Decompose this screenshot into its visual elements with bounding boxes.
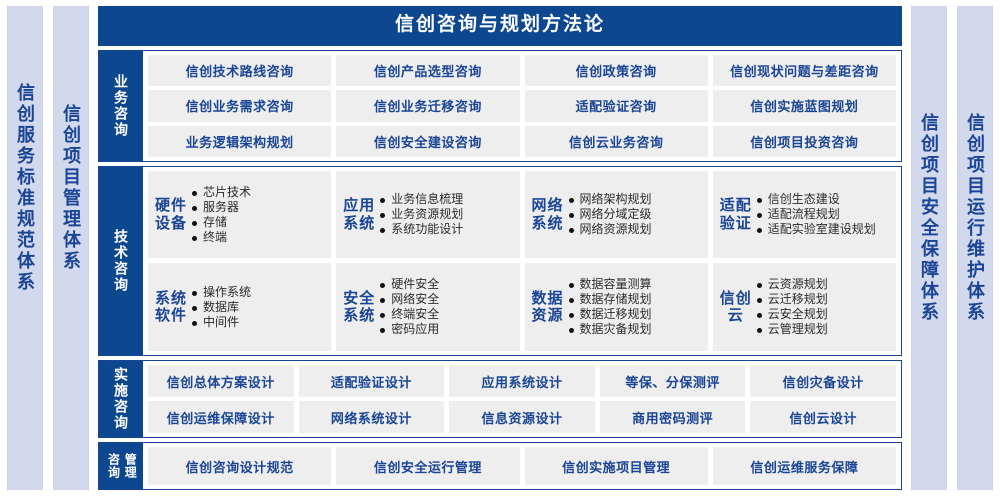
section-implementation-consulting: 实施咨询 信创总体方案设计 适配验证设计 应用系统设计 等保、分保测评 信创灾备… bbox=[98, 360, 902, 438]
list-item: 数据迁移规划 bbox=[569, 307, 704, 322]
table-row: 信创业务需求咨询 信创业务迁移咨询 适配验证咨询 信创实施蓝图规划 bbox=[148, 90, 896, 121]
tech-card-title: 安全系统 bbox=[342, 290, 376, 325]
tech-card-list: 网络架构规划 网络分域定级 网络资源规划 bbox=[569, 192, 704, 237]
tech-card-list: 云资源规划 云迁移规划 云安全规划 云管理规划 bbox=[757, 277, 892, 337]
pillar-operation-maintenance[interactable]: 信创项目运行维护体系 bbox=[957, 6, 993, 490]
section-business-consulting-label-col: 业务咨询 bbox=[99, 51, 143, 161]
tech-card-title: 数据资源 bbox=[531, 290, 565, 325]
list-item: 服务器 bbox=[192, 200, 327, 215]
list-item: 云安全规划 bbox=[757, 307, 892, 322]
list-item[interactable]: 信创政策咨询 bbox=[525, 55, 708, 86]
table-row: 业务逻辑架构规划 信创安全建设咨询 信创云业务咨询 信创项目投资咨询 bbox=[148, 126, 896, 157]
page-title: 信创咨询与规划方法论 bbox=[98, 6, 902, 46]
tech-card-title: 网络系统 bbox=[531, 197, 565, 232]
section-implementation-consulting-body: 信创总体方案设计 适配验证设计 应用系统设计 等保、分保测评 信创灾备设计 信创… bbox=[143, 361, 901, 437]
list-item[interactable]: 信创项目投资咨询 bbox=[713, 126, 896, 157]
tech-card-title: 应用系统 bbox=[342, 197, 376, 232]
section-consulting-management: 咨询 管理 信创咨询设计规范 信创安全运行管理 信创实施项目管理 信创运维服务保… bbox=[98, 442, 902, 490]
list-item[interactable]: 等保、分保测评 bbox=[600, 365, 746, 397]
tech-card-data-resource[interactable]: 数据资源 数据容量测算 数据存储规划 数据迁移规划 数据灾备规划 bbox=[525, 263, 708, 351]
list-item[interactable]: 信创业务需求咨询 bbox=[148, 90, 331, 121]
section-consulting-management-label-col2: 管理 bbox=[123, 453, 137, 479]
list-item: 信创生态建设 bbox=[757, 192, 892, 207]
tech-card-title: 系统软件 bbox=[154, 290, 188, 325]
list-item[interactable]: 网络系统设计 bbox=[299, 401, 445, 433]
section-consulting-management-label: 咨询 管理 bbox=[106, 453, 137, 479]
list-item[interactable]: 信创技术路线咨询 bbox=[148, 55, 331, 86]
table-row: 信创运维保障设计 网络系统设计 信息资源设计 商用密码测评 信创云设计 bbox=[148, 401, 896, 433]
section-implementation-consulting-label: 实施咨询 bbox=[114, 367, 128, 431]
tech-card-list: 硬件安全 网络安全 终端安全 密码应用 bbox=[380, 277, 515, 337]
list-item[interactable]: 信创云设计 bbox=[750, 401, 896, 433]
list-item[interactable]: 信创灾备设计 bbox=[750, 365, 896, 397]
pillar-service-standard-label: 信创服务标准规范体系 bbox=[16, 83, 34, 293]
tech-card-title: 信创云 bbox=[719, 290, 753, 325]
tech-card-hardware[interactable]: 硬件设备 芯片技术 服务器 存储 终端 bbox=[148, 171, 331, 259]
list-item[interactable]: 信创现状问题与差距咨询 bbox=[713, 55, 896, 86]
list-item: 终端 bbox=[192, 230, 327, 245]
list-item[interactable]: 商用密码测评 bbox=[600, 401, 746, 433]
list-item[interactable]: 信创业务迁移咨询 bbox=[336, 90, 519, 121]
pillar-security-assurance-label: 信创项目安全保障体系 bbox=[920, 113, 938, 323]
list-item: 密码应用 bbox=[380, 322, 515, 337]
section-consulting-management-body: 信创咨询设计规范 信创安全运行管理 信创实施项目管理 信创运维服务保障 bbox=[143, 443, 901, 489]
section-technical-consulting-body: 硬件设备 芯片技术 服务器 存储 终端 应用系统 业务信息梳理 业务资源规划 系… bbox=[143, 167, 901, 355]
tech-card-title: 硬件设备 bbox=[154, 197, 188, 232]
list-item[interactable]: 业务逻辑架构规划 bbox=[148, 126, 331, 157]
section-consulting-management-label-col1: 咨询 bbox=[106, 453, 120, 479]
list-item[interactable]: 信创安全运行管理 bbox=[336, 447, 519, 485]
section-business-consulting-body: 信创技术路线咨询 信创产品选型咨询 信创政策咨询 信创现状问题与差距咨询 信创业… bbox=[143, 51, 901, 161]
pillar-project-management[interactable]: 信创项目管理体系 bbox=[53, 6, 89, 490]
list-item: 中间件 bbox=[192, 315, 327, 330]
table-row: 信创技术路线咨询 信创产品选型咨询 信创政策咨询 信创现状问题与差距咨询 bbox=[148, 55, 896, 86]
list-item: 硬件安全 bbox=[380, 277, 515, 292]
section-technical-consulting-label-col: 技术咨询 bbox=[99, 167, 143, 355]
list-item: 业务信息梳理 bbox=[380, 192, 515, 207]
section-business-consulting-label: 业务咨询 bbox=[114, 74, 128, 138]
list-item: 云迁移规划 bbox=[757, 292, 892, 307]
list-item[interactable]: 信创安全建设咨询 bbox=[336, 126, 519, 157]
list-item: 芯片技术 bbox=[192, 185, 327, 200]
list-item: 网络分域定级 bbox=[569, 207, 704, 222]
list-item: 存储 bbox=[192, 215, 327, 230]
list-item: 数据容量测算 bbox=[569, 277, 704, 292]
section-business-consulting: 业务咨询 信创技术路线咨询 信创产品选型咨询 信创政策咨询 信创现状问题与差距咨… bbox=[98, 50, 902, 162]
tech-card-list: 业务信息梳理 业务资源规划 系统功能设计 bbox=[380, 192, 515, 237]
list-item[interactable]: 信创实施蓝图规划 bbox=[713, 90, 896, 121]
list-item[interactable]: 应用系统设计 bbox=[449, 365, 595, 397]
tech-card-title: 适配验证 bbox=[719, 197, 753, 232]
list-item: 适配流程规划 bbox=[757, 207, 892, 222]
list-item[interactable]: 信息资源设计 bbox=[449, 401, 595, 433]
tech-card-list: 信创生态建设 适配流程规划 适配实验室建设规划 bbox=[757, 192, 892, 237]
list-item[interactable]: 信创产品选型咨询 bbox=[336, 55, 519, 86]
tech-card-security-system[interactable]: 安全系统 硬件安全 网络安全 终端安全 密码应用 bbox=[336, 263, 519, 351]
list-item: 数据灾备规划 bbox=[569, 322, 704, 337]
tech-card-application-system[interactable]: 应用系统 业务信息梳理 业务资源规划 系统功能设计 bbox=[336, 171, 519, 259]
list-item: 系统功能设计 bbox=[380, 222, 515, 237]
table-row: 信创咨询设计规范 信创安全运行管理 信创实施项目管理 信创运维服务保障 bbox=[148, 447, 896, 485]
tech-card-xinchuang-cloud[interactable]: 信创云 云资源规划 云迁移规划 云安全规划 云管理规划 bbox=[713, 263, 896, 351]
list-item[interactable]: 信创总体方案设计 bbox=[148, 365, 294, 397]
list-item: 网络安全 bbox=[380, 292, 515, 307]
list-item: 网络架构规划 bbox=[569, 192, 704, 207]
tech-card-network-system[interactable]: 网络系统 网络架构规划 网络分域定级 网络资源规划 bbox=[525, 171, 708, 259]
list-item[interactable]: 适配验证设计 bbox=[299, 365, 445, 397]
list-item: 网络资源规划 bbox=[569, 222, 704, 237]
section-consulting-management-label-col: 咨询 管理 bbox=[99, 443, 143, 489]
list-item[interactable]: 信创实施项目管理 bbox=[525, 447, 708, 485]
list-item[interactable]: 信创咨询设计规范 bbox=[148, 447, 331, 485]
list-item[interactable]: 适配验证咨询 bbox=[525, 90, 708, 121]
list-item[interactable]: 信创云业务咨询 bbox=[525, 126, 708, 157]
pillar-security-assurance[interactable]: 信创项目安全保障体系 bbox=[911, 6, 947, 490]
section-implementation-consulting-label-col: 实施咨询 bbox=[99, 361, 143, 437]
list-item: 终端安全 bbox=[380, 307, 515, 322]
list-item: 数据库 bbox=[192, 300, 327, 315]
pillar-project-management-label: 信创项目管理体系 bbox=[62, 104, 80, 272]
pillar-operation-maintenance-label: 信创项目运行维护体系 bbox=[966, 113, 984, 323]
list-item[interactable]: 信创运维服务保障 bbox=[713, 447, 896, 485]
list-item[interactable]: 信创运维保障设计 bbox=[148, 401, 294, 433]
section-technical-consulting: 技术咨询 硬件设备 芯片技术 服务器 存储 终端 应用系统 bbox=[98, 166, 902, 356]
list-item: 云资源规划 bbox=[757, 277, 892, 292]
table-row: 信创总体方案设计 适配验证设计 应用系统设计 等保、分保测评 信创灾备设计 bbox=[148, 365, 896, 397]
list-item: 操作系统 bbox=[192, 285, 327, 300]
section-technical-consulting-label: 技术咨询 bbox=[114, 229, 128, 293]
list-item: 适配实验室建设规划 bbox=[757, 222, 892, 237]
list-item: 数据存储规划 bbox=[569, 292, 704, 307]
tech-card-list: 芯片技术 服务器 存储 终端 bbox=[192, 185, 327, 245]
methodology-diagram: 信创服务标准规范体系 信创项目管理体系 信创咨询与规划方法论 业务咨询 信创技术… bbox=[0, 0, 1000, 496]
tech-card-system-software[interactable]: 系统软件 操作系统 数据库 中间件 bbox=[148, 263, 331, 351]
list-item: 云管理规划 bbox=[757, 322, 892, 337]
tech-card-adaptation-verification[interactable]: 适配验证 信创生态建设 适配流程规划 适配实验室建设规划 bbox=[713, 171, 896, 259]
tech-card-list: 数据容量测算 数据存储规划 数据迁移规划 数据灾备规划 bbox=[569, 277, 704, 337]
center-stack: 信创咨询与规划方法论 业务咨询 信创技术路线咨询 信创产品选型咨询 信创政策咨询… bbox=[98, 6, 902, 490]
tech-card-list: 操作系统 数据库 中间件 bbox=[192, 285, 327, 330]
list-item: 业务资源规划 bbox=[380, 207, 515, 222]
pillar-service-standard[interactable]: 信创服务标准规范体系 bbox=[7, 6, 43, 490]
